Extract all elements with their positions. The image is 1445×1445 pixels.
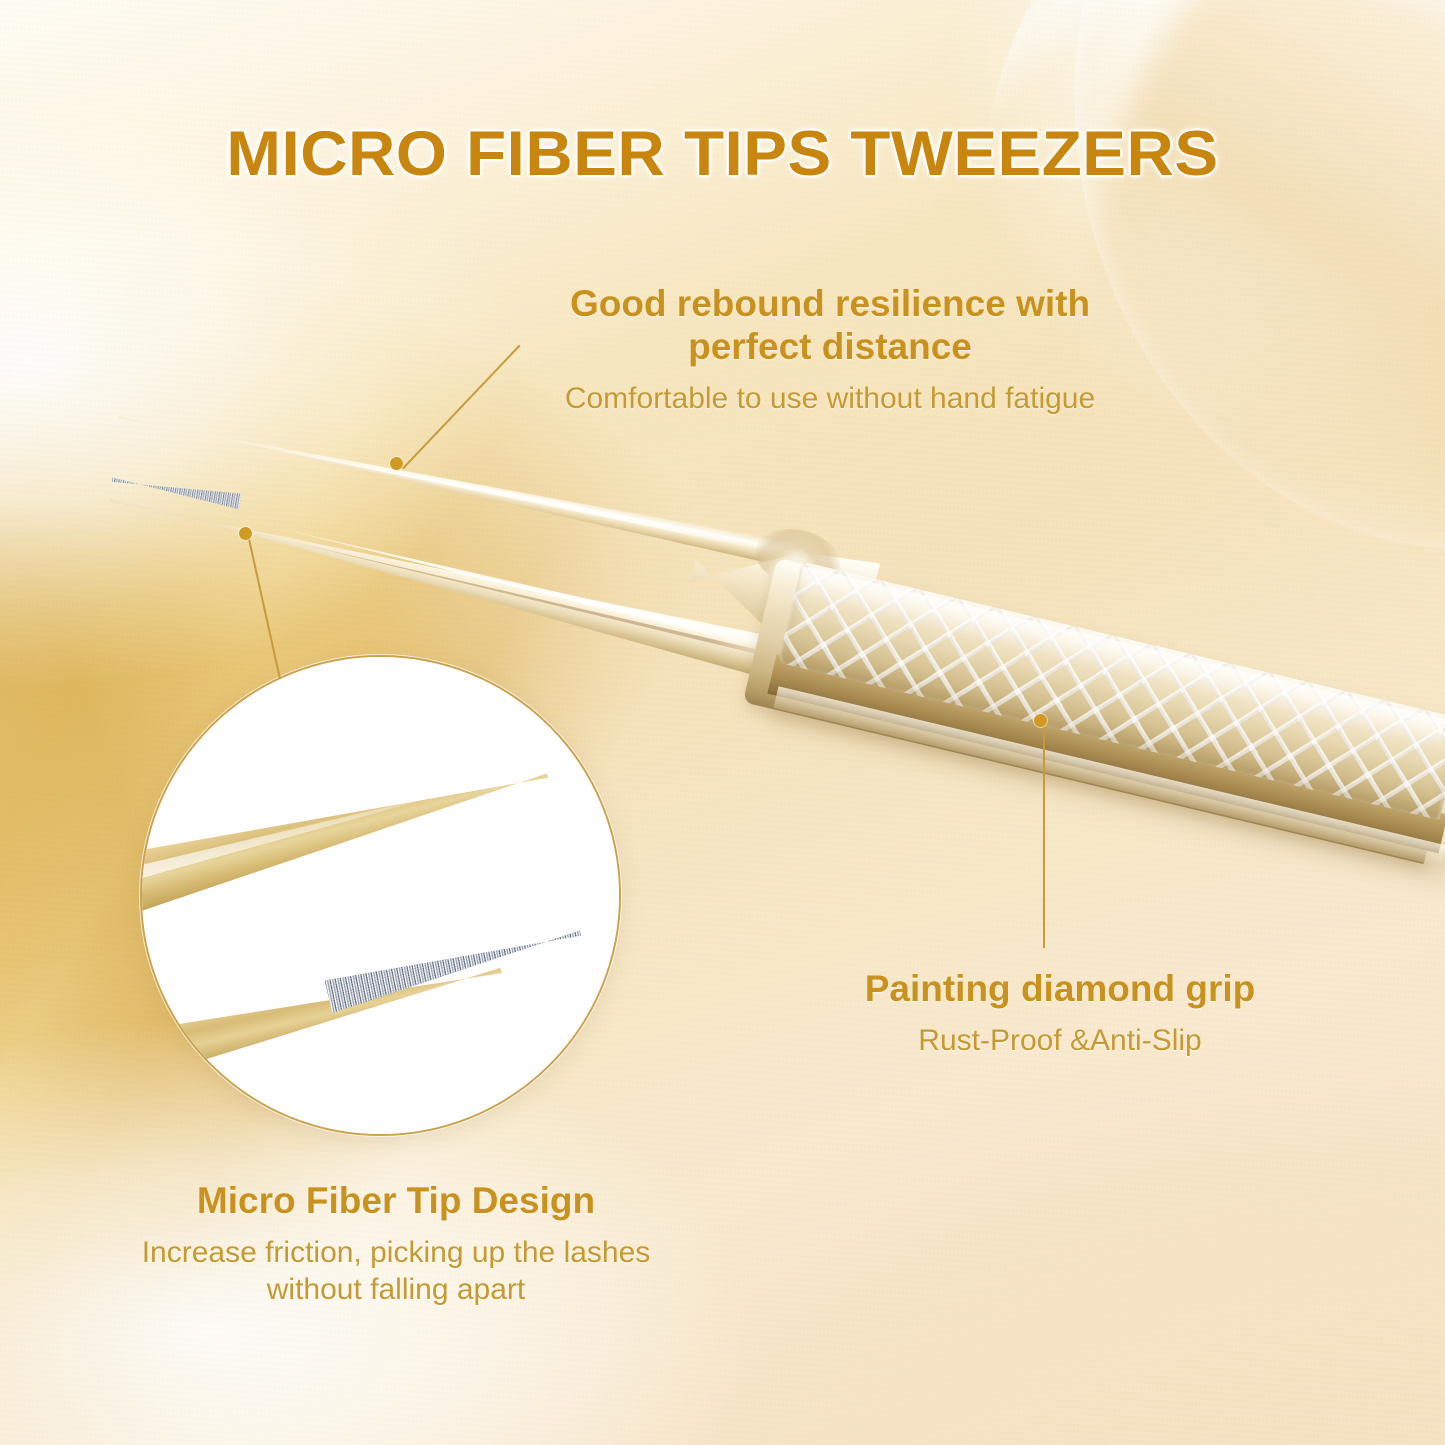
feature-diamond-grip: Painting diamond grip Rust-Proof &Anti-S…: [760, 968, 1360, 1060]
feature-rebound-heading-line1: Good rebound resilience with: [455, 283, 1205, 326]
magnified-micro-fiber-texture: [323, 912, 586, 1016]
magnified-upper-arm-tip: [140, 739, 557, 926]
feature-micro-fiber-heading: Micro Fiber Tip Design: [36, 1180, 756, 1223]
feature-micro-fiber-subtext-line1: Increase friction, picking up the lashes: [36, 1235, 756, 1272]
feature-rebound-heading-line2: perfect distance: [455, 326, 1205, 369]
infographic-canvas: MICRO FIBER TIPS TWEEZERS Good rebound r…: [0, 0, 1445, 1445]
feature-diamond-grip-subtext: Rust-Proof &Anti-Slip: [760, 1023, 1360, 1060]
feature-rebound-subtext: Comfortable to use without hand fatigue: [455, 381, 1205, 418]
feature-rebound: Good rebound resilience with perfect dis…: [455, 283, 1205, 417]
callout-dot-micro-fiber: [239, 527, 252, 540]
page-title: MICRO FIBER TIPS TWEEZERS: [0, 118, 1445, 190]
feature-micro-fiber-tip: Micro Fiber Tip Design Increase friction…: [36, 1180, 756, 1308]
callout-dot-diamond-grip: [1034, 714, 1047, 727]
magnifier-background: [142, 657, 619, 1134]
feature-diamond-grip-heading: Painting diamond grip: [760, 968, 1360, 1011]
tweezer-lower-arm-gloss: [174, 498, 775, 651]
feature-micro-fiber-subtext-line2: without falling apart: [36, 1272, 756, 1309]
callout-line-diamond-grip: [1043, 726, 1045, 948]
callout-dot-rebound: [390, 457, 403, 470]
magnifier-circle: [140, 655, 621, 1136]
